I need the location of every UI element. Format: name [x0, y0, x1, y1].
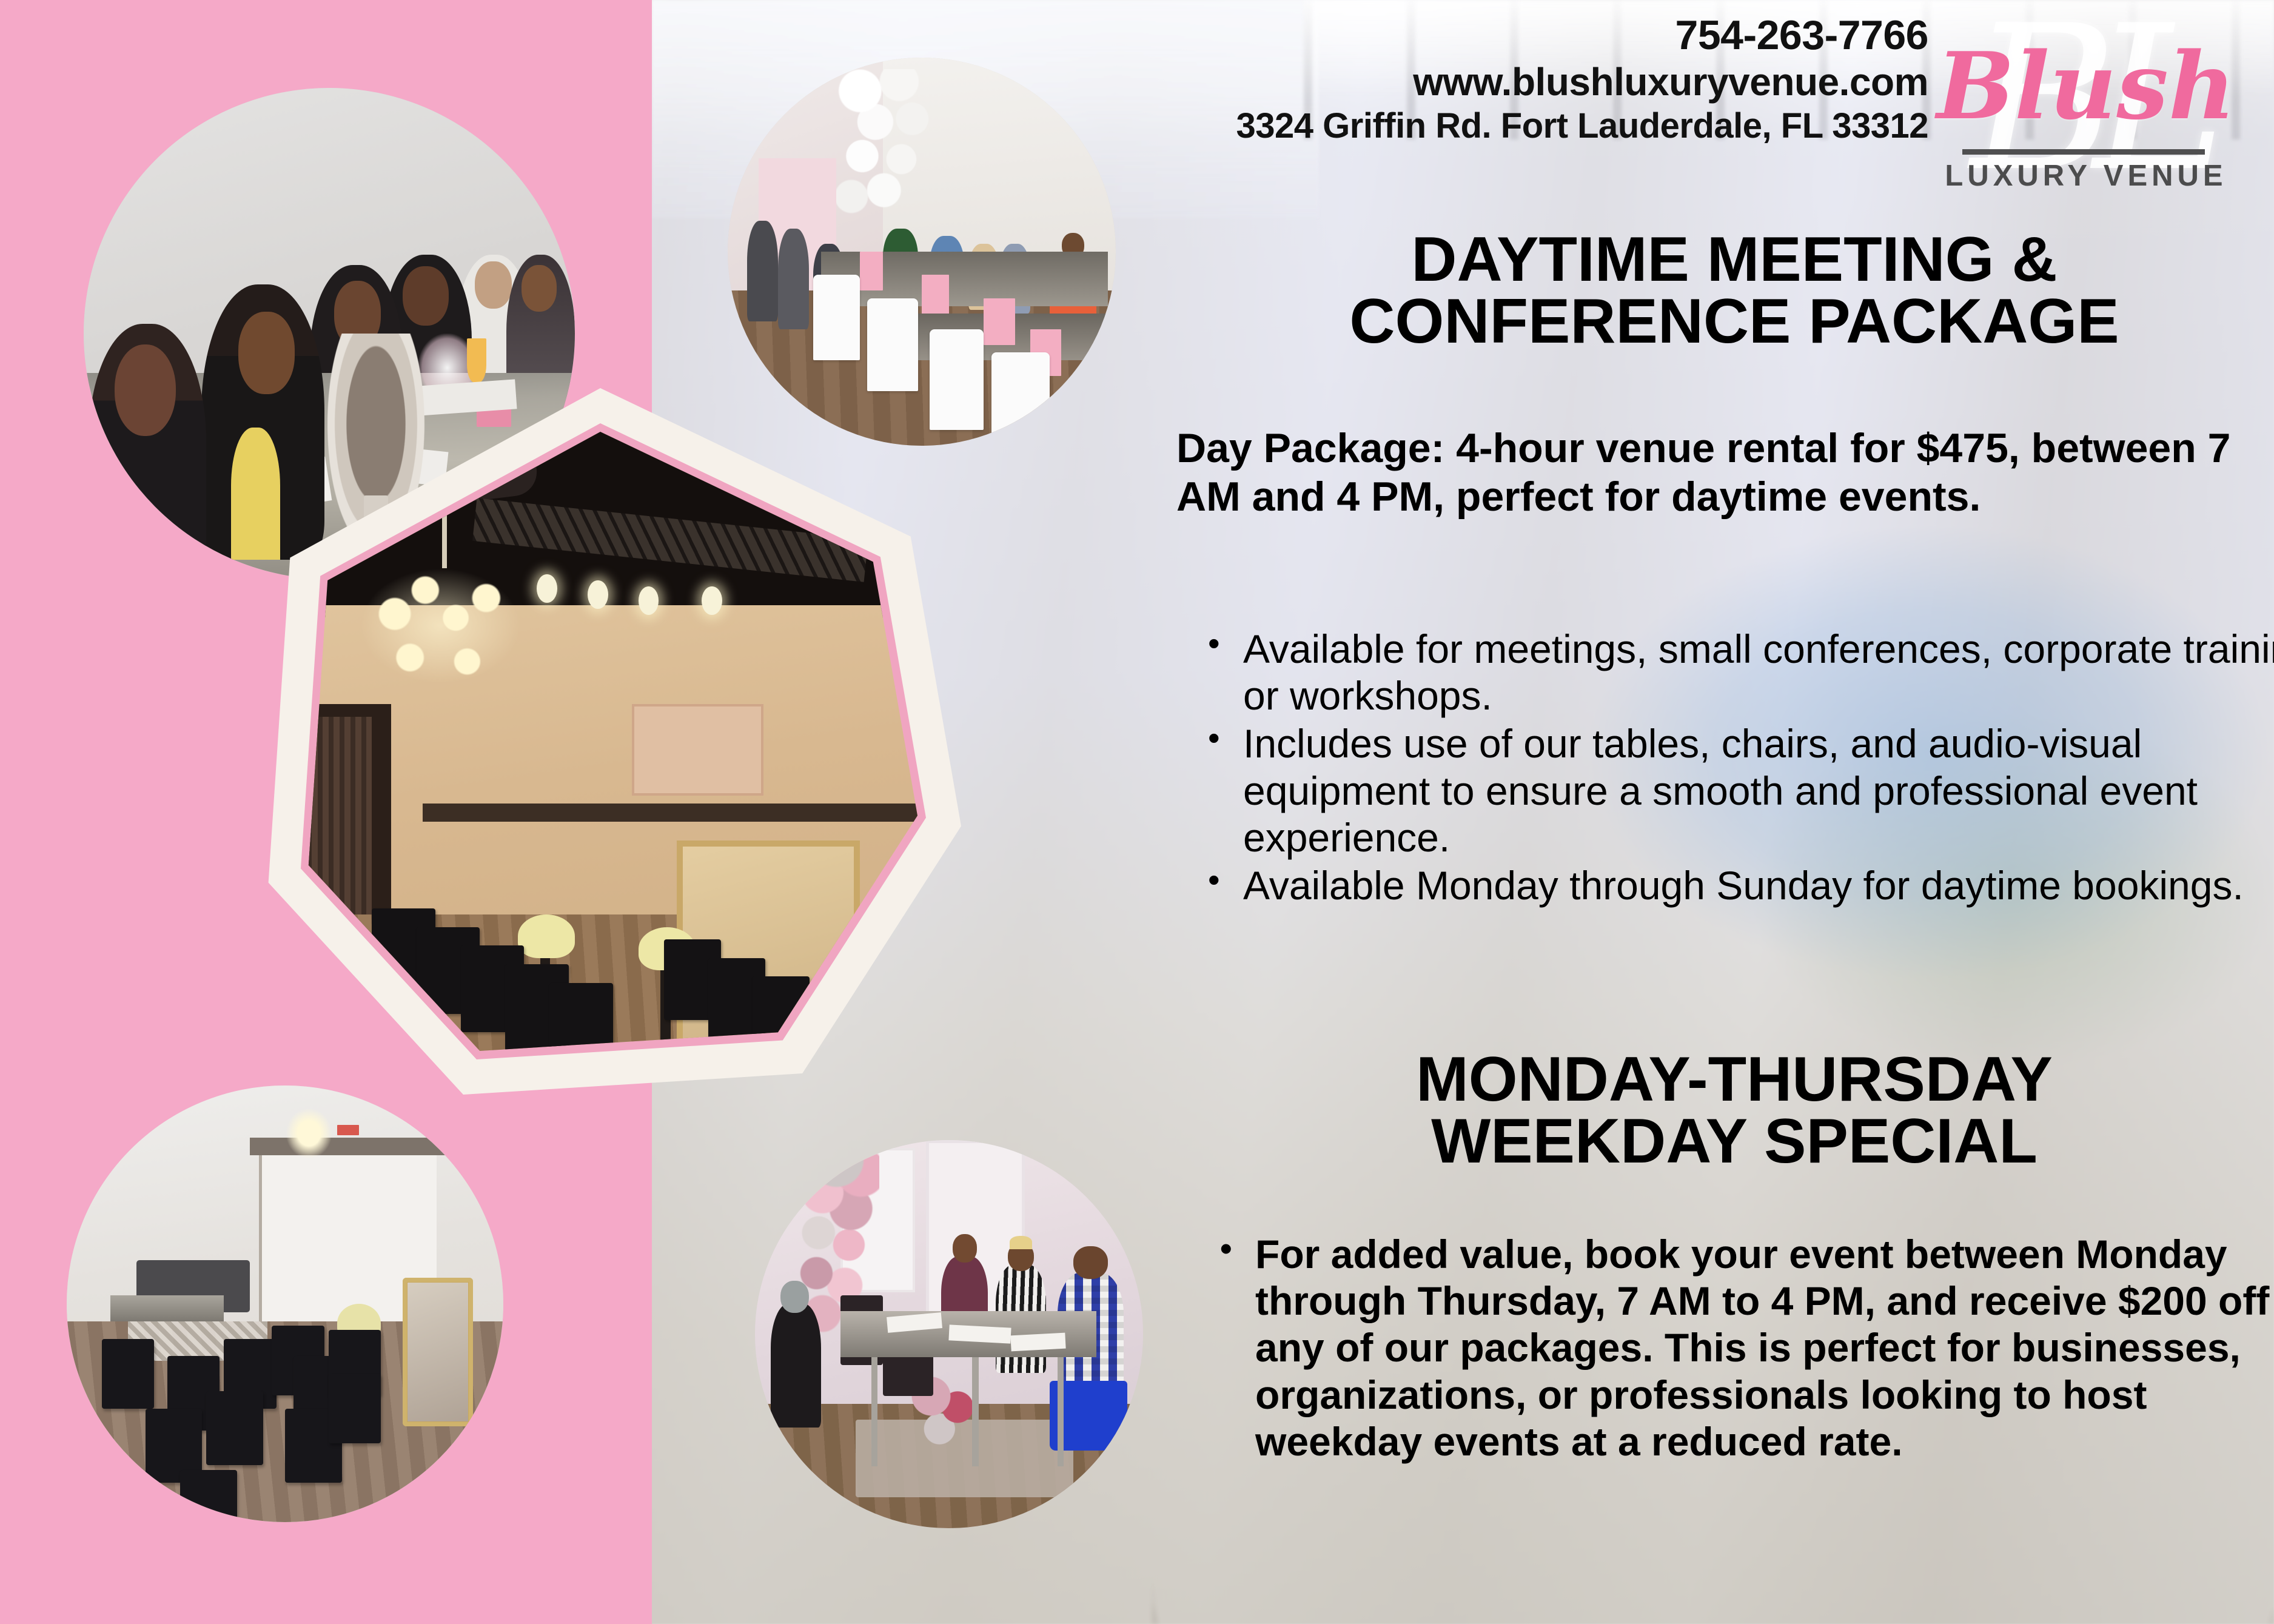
daytime-bullet-list: Available for meetings, small conference… [1176, 626, 2274, 910]
table-leg [972, 1357, 978, 1466]
white-chair [813, 275, 860, 360]
folding-chair [206, 1391, 263, 1465]
folding-chair [180, 1470, 237, 1522]
photo-heptagon-center [240, 388, 961, 1095]
pink-gift-bag [860, 252, 883, 290]
white-balloon-arch [836, 69, 945, 224]
brand-script-name: Blush [1904, 40, 2268, 132]
botleft-glass-table [110, 1295, 224, 1321]
face [238, 312, 295, 394]
list-item: Available Monday through Sunday for dayt… [1243, 862, 2274, 909]
white-chair [867, 298, 917, 392]
pink-gift-bag [922, 275, 949, 317]
heading-weekday-line2: WEEKDAY SPECIAL [1195, 1111, 2274, 1173]
weekday-bullet-list: For added value, book your event between… [1189, 1231, 2274, 1466]
face [403, 266, 449, 326]
section-one-heading: DAYTIME MEETING & CONFERENCE PACKAGE [1195, 229, 2274, 353]
content-column: 754-263-7766 www.blushluxuryvenue.com 33… [1176, 0, 2274, 1624]
table-leg [871, 1357, 877, 1466]
face [115, 344, 176, 437]
section-two-heading: MONDAY-THURSDAY WEEKDAY SPECIAL [1195, 1049, 2274, 1173]
botleft-shelf [250, 1138, 451, 1155]
list-item: For added value, book your event between… [1255, 1231, 2274, 1465]
face [522, 265, 557, 312]
heading-daytime-line2: CONFERENCE PACKAGE [1195, 291, 2274, 353]
attendee [778, 229, 809, 329]
brand-tagline: LUXURY VENUE [1904, 159, 2268, 193]
track-light [639, 586, 659, 615]
heading-weekday-line1: MONDAY-THURSDAY [1195, 1049, 2274, 1111]
white-chair [991, 352, 1050, 446]
flyer-canvas: 754-263-7766 www.blushluxuryvenue.com 33… [0, 0, 2274, 1624]
folding-chair [549, 983, 613, 1051]
decor-plant [518, 914, 575, 958]
drink-glass [467, 338, 486, 383]
list-item: Includes use of our tables, chairs, and … [1243, 720, 2274, 861]
track-light [702, 586, 722, 615]
paper-sheet [1011, 1333, 1066, 1351]
list-item: Available for meetings, small conference… [1243, 626, 2274, 719]
day-package-intro: Day Package: 4-hour venue rental for $47… [1176, 424, 2244, 521]
face [475, 261, 512, 309]
brand-logo: BL Blush LUXURY VENUE [1904, 5, 2268, 205]
hept-wall-trim [423, 804, 917, 822]
attendee [747, 221, 778, 321]
crystal-chandelier [353, 531, 543, 729]
exit-sign [337, 1125, 359, 1135]
photo-circle-bottom-left [67, 1085, 503, 1522]
gold-floor-mirror [403, 1278, 472, 1426]
track-light [588, 580, 608, 609]
photo-circle-bottom-center [755, 1140, 1143, 1528]
attendee-facial-mask [771, 1303, 821, 1428]
hept-wall-panel [632, 704, 763, 796]
folding-chair [102, 1339, 154, 1409]
attendee [89, 324, 206, 579]
logo-divider [1962, 149, 2205, 155]
folding-chair [329, 1374, 381, 1443]
table-leg [1058, 1357, 1064, 1466]
chandelier-icon [285, 1107, 333, 1159]
heading-daytime-line1: DAYTIME MEETING & [1195, 229, 2274, 291]
pink-gift-bag [984, 298, 1015, 345]
